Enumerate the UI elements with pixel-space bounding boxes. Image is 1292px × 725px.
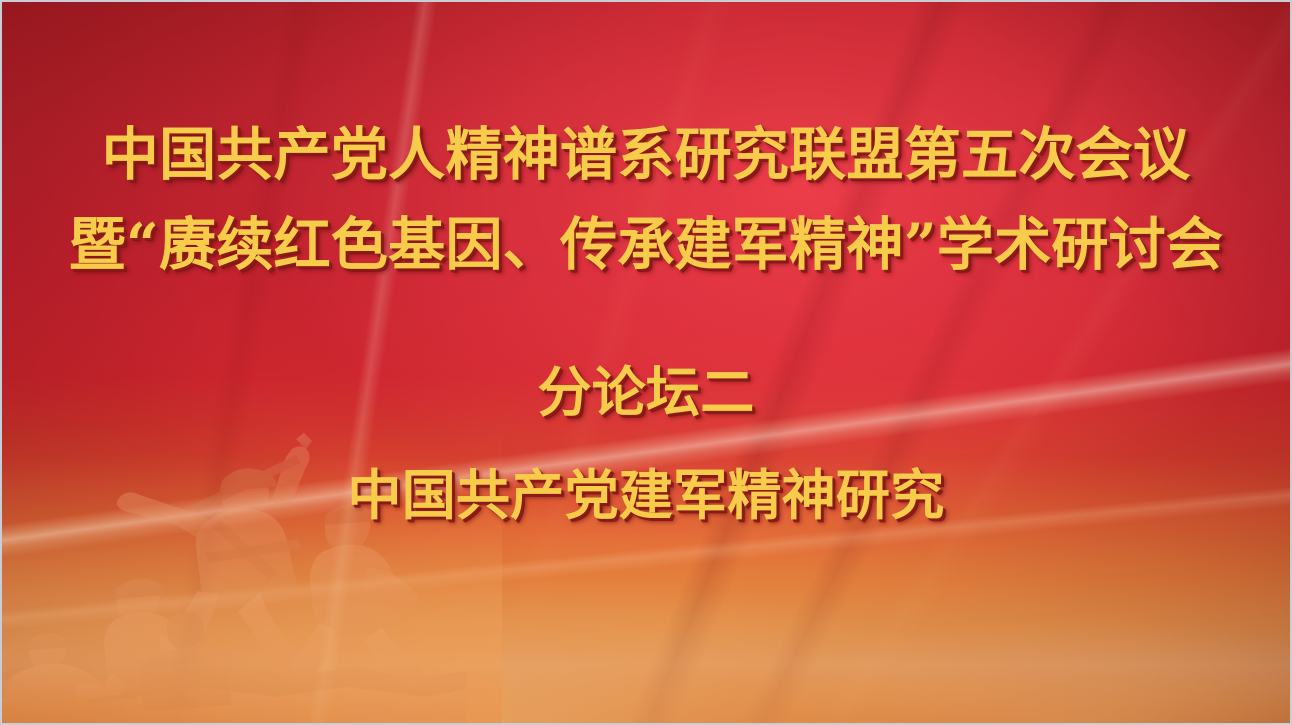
conference-title-line-1: 中国共产党人精神谱系研究联盟第五次会议: [2, 124, 1290, 186]
forum-label: 分论坛二: [2, 362, 1290, 422]
conference-title-line-2: 暨“赓续红色基因、传承建军精神”学术研讨会: [2, 214, 1290, 276]
slide-text-content: 中国共产党人精神谱系研究联盟第五次会议 暨“赓续红色基因、传承建军精神”学术研讨…: [2, 2, 1290, 723]
presentation-slide: 中国共产党人精神谱系研究联盟第五次会议 暨“赓续红色基因、传承建军精神”学术研讨…: [0, 0, 1292, 725]
forum-topic: 中国共产党建军精神研究: [2, 465, 1290, 525]
